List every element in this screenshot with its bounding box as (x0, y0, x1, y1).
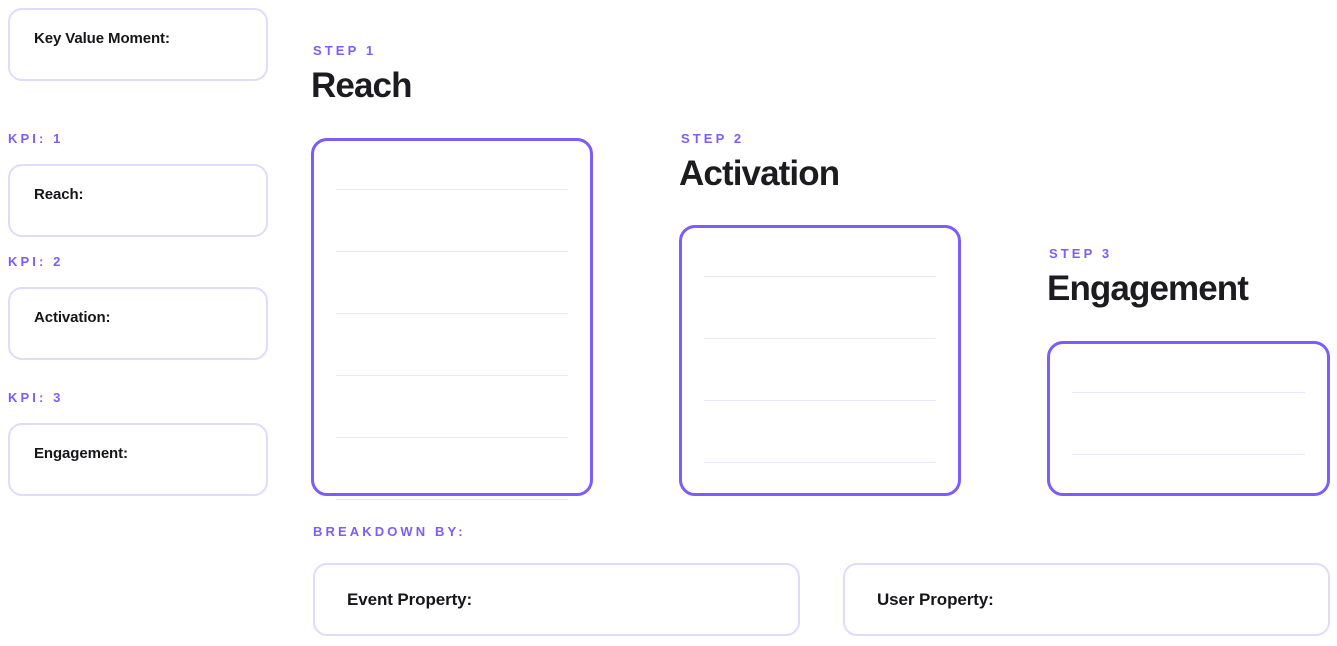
step-2-card[interactable] (679, 225, 961, 496)
kpi-2-card[interactable]: Activation: (8, 287, 268, 360)
user-property-card[interactable]: User Property: (843, 563, 1330, 636)
step-3-title: Engagement (1047, 271, 1248, 306)
rule-line (336, 313, 568, 314)
kpi-1-label: Reach: (34, 186, 83, 203)
step-1-title: Reach (311, 68, 412, 103)
event-property-card[interactable]: Event Property: (313, 563, 800, 636)
kpi-3-kicker: KPI: 3 (8, 390, 63, 405)
kpi-2-label: Activation: (34, 309, 110, 326)
rule-line (1072, 454, 1305, 455)
rule-line (1072, 392, 1305, 393)
kpi-2-kicker: KPI: 2 (8, 254, 63, 269)
kpi-3-label: Engagement: (34, 445, 128, 462)
event-property-label: Event Property: (347, 590, 472, 610)
key-value-moment-card[interactable]: Key Value Moment: (8, 8, 268, 81)
rule-line (336, 189, 568, 190)
rule-line (704, 276, 936, 277)
step-2-rule-lines (704, 228, 936, 493)
rule-line (704, 462, 936, 463)
breakdown-by-kicker: BREAKDOWN BY: (313, 524, 466, 539)
step-2-kicker: STEP 2 (681, 131, 744, 146)
user-property-label: User Property: (877, 590, 994, 610)
rule-line (336, 437, 568, 438)
rule-line (336, 251, 568, 252)
step-2-title: Activation (679, 156, 839, 191)
worksheet-canvas: Key Value Moment: KPI: 1 Reach: KPI: 2 A… (0, 0, 1337, 646)
step-1-kicker: STEP 1 (313, 43, 376, 58)
key-value-moment-label: Key Value Moment: (34, 30, 170, 47)
step-1-card[interactable] (311, 138, 593, 496)
rule-line (336, 375, 568, 376)
step-3-card[interactable] (1047, 341, 1330, 496)
kpi-1-card[interactable]: Reach: (8, 164, 268, 237)
step-1-rule-lines (336, 141, 568, 493)
rule-line (704, 338, 936, 339)
rule-line (704, 400, 936, 401)
step-3-rule-lines (1072, 344, 1305, 493)
kpi-1-kicker: KPI: 1 (8, 131, 63, 146)
kpi-3-card[interactable]: Engagement: (8, 423, 268, 496)
rule-line (336, 499, 568, 500)
step-3-kicker: STEP 3 (1049, 246, 1112, 261)
